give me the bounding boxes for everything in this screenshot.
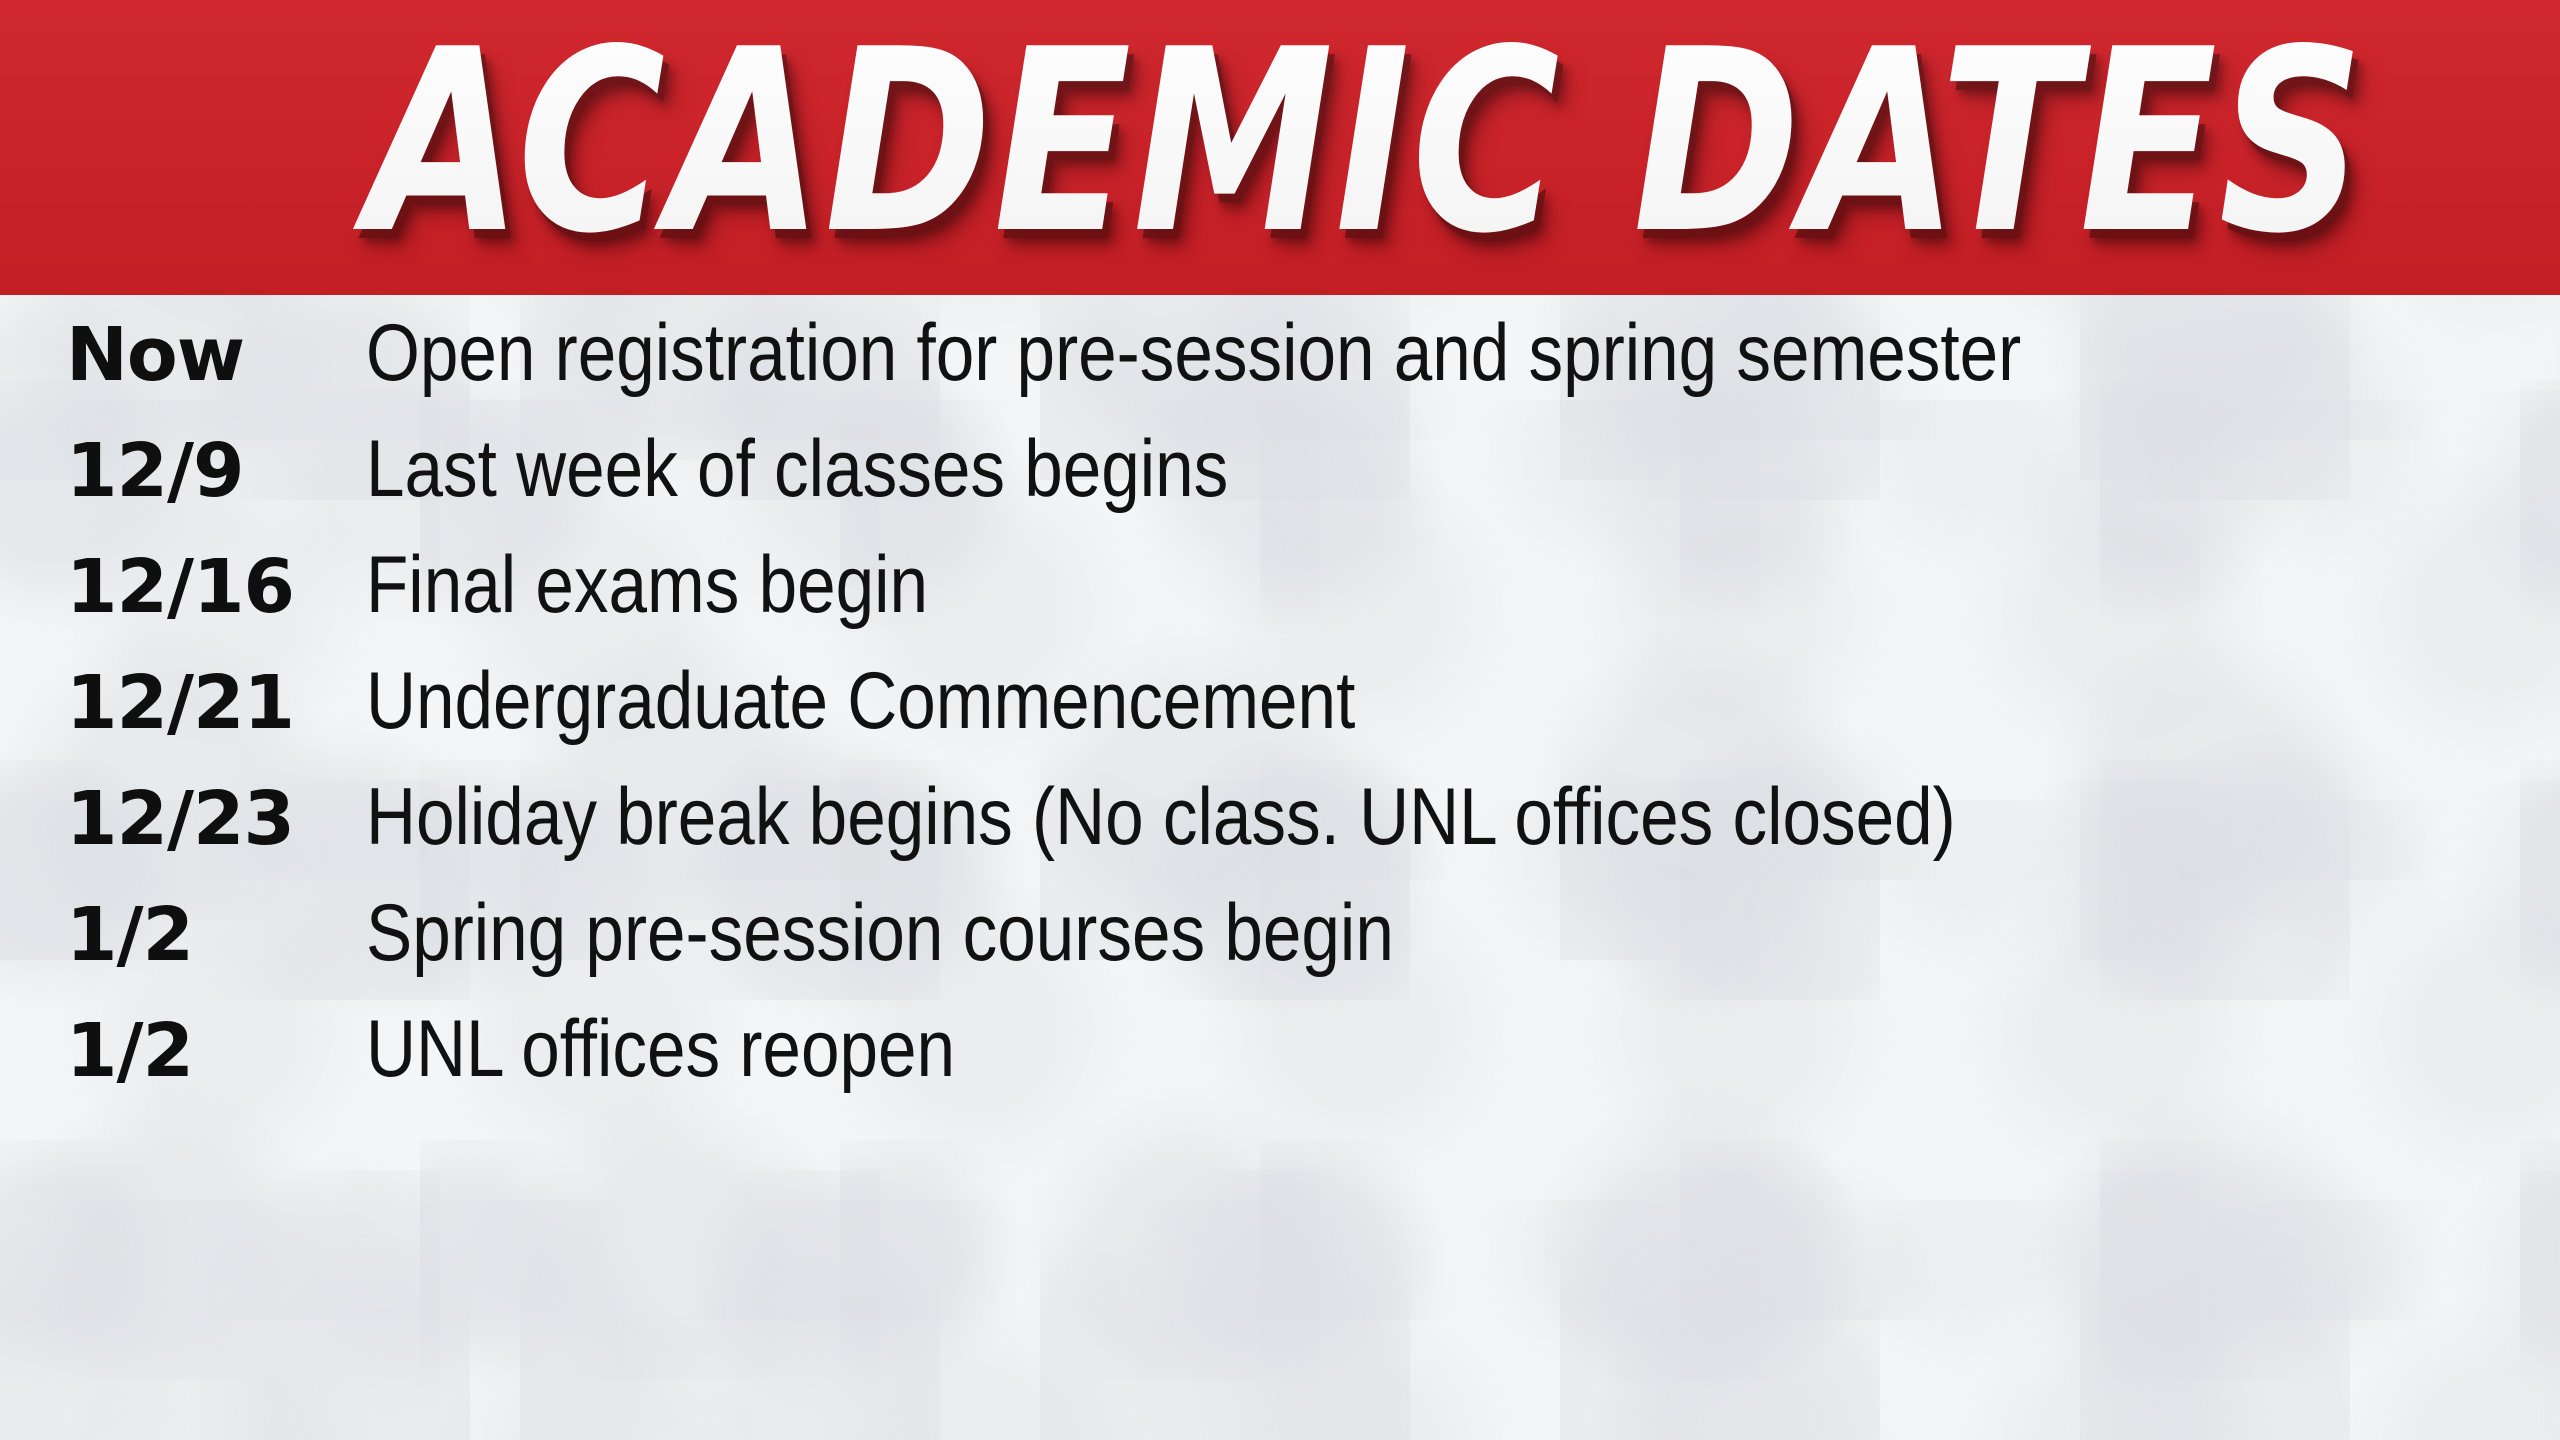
row-description: Spring pre-session courses begin [366,875,2242,991]
row-description: Open registration for pre-session and sp… [366,295,2242,411]
row-date: 12/16 [66,529,366,645]
row-date: 12/9 [66,413,366,529]
table-row: 12/23 Holiday break begins (No class. UN… [0,759,2560,875]
row-date: 1/2 [66,993,366,1109]
row-date: 12/21 [66,645,366,761]
row-description: UNL offices reopen [366,991,2242,1107]
table-row: Now Open registration for pre-session an… [0,295,2560,411]
academic-dates-list: Now Open registration for pre-session an… [0,295,2560,1440]
page-title: ACADEMIC DATES [366,8,2366,278]
table-row: 12/16 Final exams begin [0,527,2560,643]
row-date: Now [66,297,366,413]
academic-dates-slide: ACADEMIC DATES Now Open registration for… [0,0,2560,1440]
row-description: Final exams begin [366,527,2242,643]
header-banner: ACADEMIC DATES [0,0,2560,295]
row-description: Holiday break begins (No class. UNL offi… [366,759,2242,875]
table-row: 12/9 Last week of classes begins [0,411,2560,527]
row-date: 12/23 [66,761,366,877]
table-row: 1/2 Spring pre-session courses begin [0,875,2560,991]
table-row: 12/21 Undergraduate Commencement [0,643,2560,759]
table-row: 1/2 UNL offices reopen [0,991,2560,1107]
row-date: 1/2 [66,877,366,993]
row-description: Undergraduate Commencement [366,643,2242,759]
row-description: Last week of classes begins [366,411,2242,527]
